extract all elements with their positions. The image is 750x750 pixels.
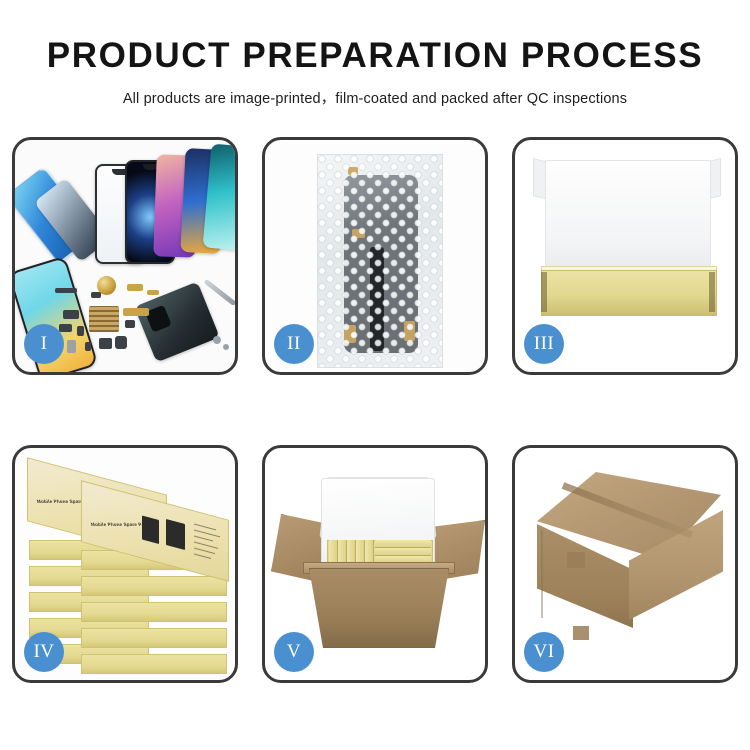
step-badge-5: V [274,632,314,672]
part-bit [63,310,79,319]
product-preparation-infographic: PRODUCT PREPARATION PROCESS All products… [0,0,750,750]
box-end-shadow [541,272,547,312]
process-step-2: II [262,137,488,375]
carton-edge [541,530,543,618]
part-bit [147,290,159,295]
part-bit [91,292,101,298]
part-bit [85,342,91,351]
box-lid-white [545,160,711,278]
step-badge-2: II [274,324,314,364]
part-bit [59,324,72,332]
logic-board-chip-icon [89,306,119,332]
screwdriver-icon [203,279,235,306]
process-step-3: III [512,137,738,375]
spec-line [194,553,211,559]
spec-line [194,523,216,530]
part-bit [77,326,84,336]
process-step-4: Mobile Phone Spare Parts Mobile Phone Sp… [12,445,238,683]
stacked-box [81,576,227,596]
yellow-box [375,540,431,548]
carton-flap-tab [567,552,585,568]
part-bit [125,320,135,328]
box-end-shadow [709,272,715,312]
part-bit [99,338,112,349]
stacked-box [81,602,227,622]
step-badge-6: VI [524,632,564,672]
stacked-box [81,628,227,648]
spec-line [194,547,215,554]
part-bit [55,288,77,293]
page-subtitle: All products are image-printed，film-coat… [0,87,750,108]
step-badge-1: I [24,324,64,364]
bubble-texture [318,155,442,367]
process-step-6: VI [512,445,738,683]
part-bit [67,340,76,353]
page-title: PRODUCT PREPARATION PROCESS [0,38,750,75]
step-badge-3: III [524,324,564,364]
bubble-wrap-bag [317,154,443,368]
process-step-5: V [262,445,488,683]
carton-body [309,568,449,648]
carton-flap-tab [573,626,589,640]
part-bit [115,336,127,349]
part-bit [223,344,229,350]
process-step-grid: I II [12,137,738,683]
stacked-box [81,654,227,674]
part-bit [127,284,143,291]
step-badge-4: IV [24,632,64,672]
yellow-inner-box [541,270,717,316]
header: PRODUCT PREPARATION PROCESS All products… [0,0,750,108]
spec-line [194,535,213,541]
yellow-box [375,548,431,556]
product-swatch [166,519,185,550]
flex-cable-icon [123,308,149,316]
part-bit [213,336,221,344]
process-step-1: I [12,137,238,375]
product-swatch [142,516,159,545]
